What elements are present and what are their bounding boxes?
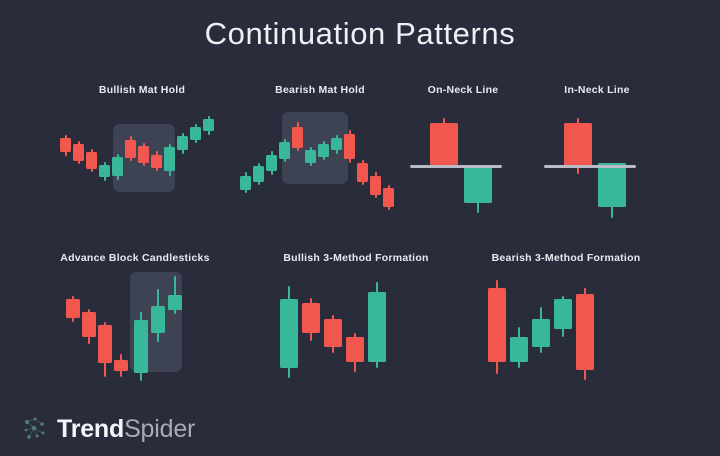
candle (564, 102, 592, 224)
candle-body (86, 152, 97, 169)
candle-body (266, 155, 277, 172)
candle-body (318, 144, 329, 157)
candle-body (576, 294, 594, 371)
candle (598, 102, 626, 224)
candle-body (598, 163, 626, 207)
candle (82, 270, 96, 392)
candlestick-chart-on-neck-line (408, 102, 518, 224)
candle-body (114, 360, 128, 371)
brand-name-bold: Trend (57, 415, 124, 443)
candle (464, 102, 492, 224)
candle (164, 102, 175, 224)
candle (253, 102, 264, 224)
candle-body (464, 167, 492, 203)
candle-body (368, 292, 386, 363)
pattern-panel-in-neck-line: In-Neck Line (542, 84, 652, 224)
pattern-panel-bullish-3-method-formation: Bullish 3-Method Formation (276, 252, 436, 384)
candle (99, 102, 110, 224)
candle-body (344, 134, 355, 159)
candlestick-chart-bullish-3-method-formation (276, 270, 436, 384)
spider-web-dots-icon (22, 416, 48, 442)
candle-body (324, 319, 342, 347)
candle (488, 270, 506, 384)
candle-body (280, 299, 298, 368)
candle-body (112, 157, 123, 176)
pattern-label-bearish-3-method-formation: Bearish 3-Method Formation (484, 252, 648, 264)
candle (60, 102, 71, 224)
candle-body (66, 299, 80, 318)
neckline-marker (544, 165, 636, 168)
candle-body (554, 299, 572, 328)
brand-logo: TrendSpider (22, 416, 195, 442)
candle (576, 270, 594, 384)
candle-body (331, 138, 342, 151)
pattern-panel-advance-block-candlesticks: Advance Block Candlesticks (58, 252, 212, 392)
candle (138, 102, 149, 224)
candle (324, 270, 342, 384)
pattern-label-bearish-mat-hold: Bearish Mat Hold (240, 84, 400, 96)
candle (266, 102, 277, 224)
candlestick-chart-bullish-mat-hold (58, 102, 226, 224)
candle (305, 102, 316, 224)
candle-body (510, 337, 528, 363)
candle-body (151, 155, 162, 169)
candle-body (430, 123, 458, 165)
candle-body (190, 127, 201, 140)
candle (114, 270, 128, 392)
candle (66, 270, 80, 392)
candle (125, 102, 136, 224)
candle-body (73, 144, 84, 161)
candle-body (532, 319, 550, 347)
candle (368, 270, 386, 384)
candle (430, 102, 458, 224)
candle (86, 102, 97, 224)
candle-body (151, 306, 165, 333)
neckline-marker (410, 165, 502, 168)
candle-body (164, 147, 175, 171)
candle (112, 102, 123, 224)
candle-body (134, 320, 148, 373)
pattern-panel-bearish-3-method-formation: Bearish 3-Method Formation (484, 252, 648, 384)
candle (510, 270, 528, 384)
brand-name-light: Spider (124, 415, 195, 443)
candlestick-chart-in-neck-line (542, 102, 652, 224)
pattern-label-on-neck-line: On-Neck Line (408, 84, 518, 96)
candle (357, 102, 368, 224)
candle (203, 102, 214, 224)
pattern-label-in-neck-line: In-Neck Line (542, 84, 652, 96)
candle-body (488, 288, 506, 363)
candle-body (292, 127, 303, 148)
candle (331, 102, 342, 224)
candle (73, 102, 84, 224)
pattern-label-bullish-3-method-formation: Bullish 3-Method Formation (276, 252, 436, 264)
candle (370, 102, 381, 224)
candlestick-chart-bearish-mat-hold (240, 102, 400, 224)
pattern-label-bullish-mat-hold: Bullish Mat Hold (58, 84, 226, 96)
candle-body (99, 165, 110, 177)
candle-body (203, 119, 214, 132)
candle (318, 102, 329, 224)
candle (240, 102, 251, 224)
candle (532, 270, 550, 384)
candle-body (168, 295, 182, 310)
candle-body (383, 188, 394, 207)
candle-body (305, 150, 316, 163)
candle-body (564, 123, 592, 167)
pattern-panel-on-neck-line: On-Neck Line (408, 84, 518, 224)
pattern-label-advance-block-candlesticks: Advance Block Candlesticks (58, 252, 212, 264)
candle (383, 102, 394, 224)
brand-wordmark: TrendSpider (57, 417, 195, 442)
candle-body (138, 146, 149, 163)
candle-body (60, 138, 71, 153)
candle-body (82, 312, 96, 337)
candle (151, 102, 162, 224)
candle-body (177, 136, 188, 151)
candlestick-chart-advance-block-candlesticks (58, 270, 212, 392)
page-title: Continuation Patterns (0, 16, 720, 52)
candle-body (125, 140, 136, 158)
candle-body (253, 166, 264, 182)
candle-body (302, 303, 320, 332)
footer: TrendSpider (0, 400, 720, 456)
candle (292, 102, 303, 224)
candle (302, 270, 320, 384)
candle-body (279, 142, 290, 159)
pattern-panel-bullish-mat-hold: Bullish Mat Hold (58, 84, 226, 224)
candle (280, 270, 298, 384)
candle (98, 270, 112, 392)
candle-body (98, 325, 112, 363)
candle (168, 270, 182, 392)
pattern-panel-bearish-mat-hold: Bearish Mat Hold (240, 84, 400, 224)
candle (134, 270, 148, 392)
infographic-page: Continuation Patterns Bullish Mat HoldBe… (0, 0, 720, 456)
candle-body (370, 176, 381, 195)
candlestick-chart-bearish-3-method-formation (484, 270, 648, 384)
candle-body (346, 337, 364, 363)
candle (344, 102, 355, 224)
candle (279, 102, 290, 224)
candle (177, 102, 188, 224)
candle (151, 270, 165, 392)
candle-body (240, 176, 251, 191)
candle (346, 270, 364, 384)
candle-body (357, 163, 368, 182)
candle (190, 102, 201, 224)
candle (554, 270, 572, 384)
